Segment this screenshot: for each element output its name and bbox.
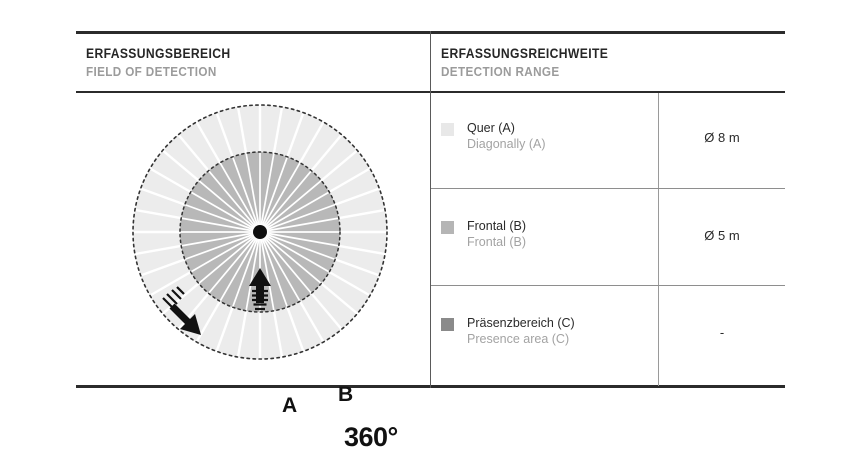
legend-label-en: Diagonally (A): [467, 136, 651, 152]
legend-label-en: Frontal (B): [467, 234, 651, 250]
legend-row-praesenzbereich: Präsenzbereich (C) Presence area (C): [441, 315, 651, 347]
legend-swatch-icon: [441, 221, 454, 234]
legend-value: Ø 5 m: [659, 228, 785, 243]
legend-value: Ø 8 m: [659, 130, 785, 145]
legend-label-de: Frontal (B): [467, 218, 651, 234]
field-of-detection-header: ERFASSUNGSBEREICH FIELD OF DETECTION: [86, 46, 247, 80]
legend-row-frontal: Frontal (B) Frontal (B): [441, 218, 651, 250]
arrow-b-label: B: [338, 383, 353, 407]
legend-value: -: [659, 325, 785, 340]
legend-row-separator: [431, 188, 785, 189]
header-title-en: FIELD OF DETECTION: [86, 64, 231, 80]
legend-label-de: Präsenzbereich (C): [467, 315, 651, 331]
detection-field-diagram: A B 360°: [110, 100, 410, 380]
spec-sheet: ERFASSUNGSBEREICH FIELD OF DETECTION ERF…: [0, 0, 861, 420]
sensor-center-dot: [253, 225, 267, 239]
legend-label-de: Quer (A): [467, 120, 651, 136]
header-title-en: DETECTION RANGE: [441, 64, 608, 80]
legend-row-separator: [431, 285, 785, 286]
detection-field-svg: [110, 100, 410, 380]
legend-label-en: Presence area (C): [467, 331, 651, 347]
header-title-de: ERFASSUNGSREICHWEITE: [441, 46, 608, 62]
legend-swatch-icon: [441, 123, 454, 136]
legend-swatch-icon: [441, 318, 454, 331]
header-title-de: ERFASSUNGSBEREICH: [86, 46, 231, 62]
coverage-angle-label: 360°: [344, 422, 398, 453]
arrow-a-label: A: [282, 394, 297, 418]
column-divider: [430, 31, 431, 388]
legend-row-quer: Quer (A) Diagonally (A): [441, 120, 651, 152]
detection-range-header: ERFASSUNGSREICHWEITE DETECTION RANGE: [441, 46, 627, 80]
